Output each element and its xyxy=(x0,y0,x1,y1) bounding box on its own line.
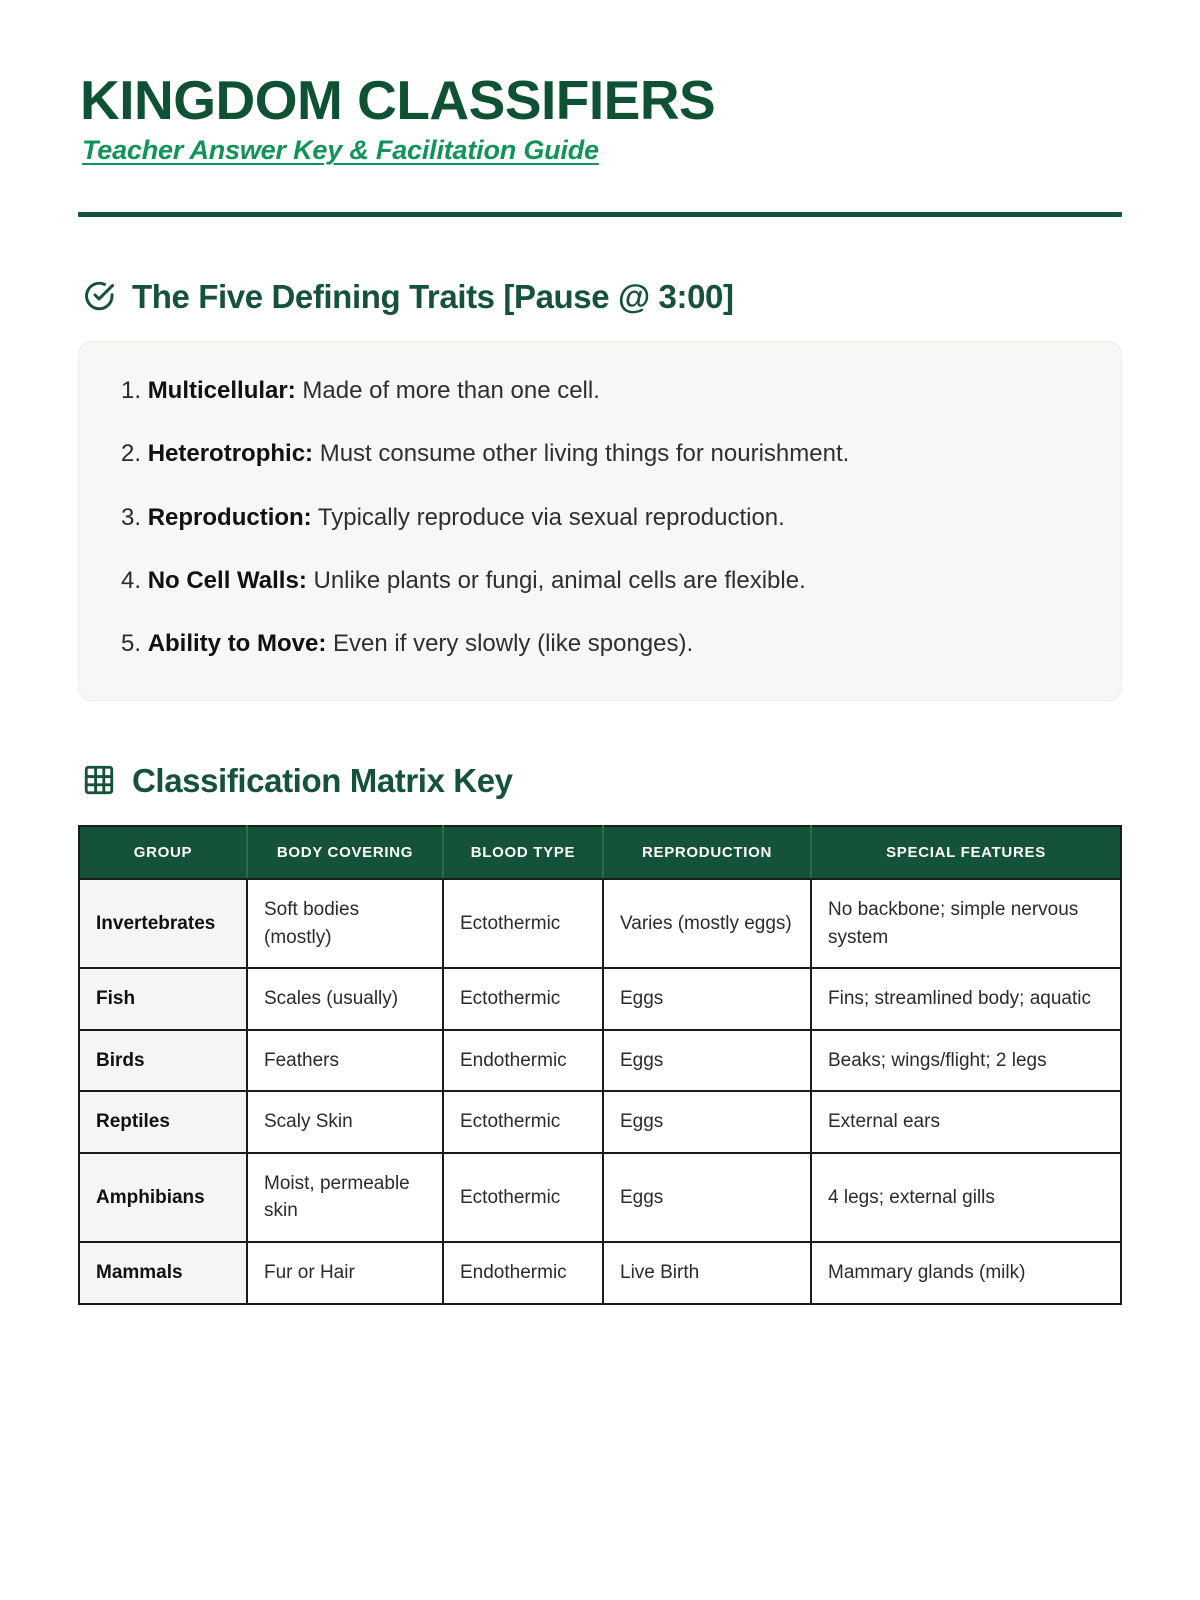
column-header-reproduction: REPRODUCTION xyxy=(603,826,811,879)
cell-body-covering: Moist, permeable skin xyxy=(247,1153,443,1242)
page-subtitle: Teacher Answer Key & Facilitation Guide xyxy=(82,135,599,166)
list-item-number: 5. xyxy=(121,630,141,657)
document-page: KINGDOM CLASSIFIERS Teacher Answer Key &… xyxy=(0,0,1200,1600)
list-item-term: Heterotrophic: xyxy=(148,440,313,467)
table-row: Fish Scales (usually) Ectothermic Eggs F… xyxy=(79,968,1121,1030)
table-row: Mammals Fur or Hair Endothermic Live Bir… xyxy=(79,1242,1121,1304)
cell-special-features: External ears xyxy=(811,1091,1121,1153)
cell-blood-type: Endothermic xyxy=(443,1242,603,1304)
list-item-number: 2. xyxy=(121,440,141,467)
list-item-number: 4. xyxy=(121,567,141,594)
traits-callout-box: 1. Multicellular: Made of more than one … xyxy=(78,341,1122,701)
cell-blood-type: Ectothermic xyxy=(443,879,603,968)
classification-matrix-table: GROUP BODY COVERING BLOOD TYPE REPRODUCT… xyxy=(78,825,1122,1304)
cell-reproduction: Live Birth xyxy=(603,1242,811,1304)
cell-group: Birds xyxy=(79,1030,247,1092)
cell-body-covering: Scales (usually) xyxy=(247,968,443,1030)
list-item-description: Unlike plants or fungi, animal cells are… xyxy=(307,567,806,594)
list-item-description: Must consume other living things for nou… xyxy=(313,440,849,467)
page-title: KINGDOM CLASSIFIERS xyxy=(80,72,1122,129)
cell-group: Mammals xyxy=(79,1242,247,1304)
list-item-number: 1. xyxy=(121,377,141,404)
table-header: GROUP BODY COVERING BLOOD TYPE REPRODUCT… xyxy=(79,826,1121,879)
list-item-description: Even if very slowly (like sponges). xyxy=(326,630,693,657)
section-title-traits: The Five Defining Traits [Pause @ 3:00] xyxy=(132,280,734,313)
section-header-traits: The Five Defining Traits [Pause @ 3:00] xyxy=(82,279,1122,313)
cell-reproduction: Eggs xyxy=(603,1091,811,1153)
cell-special-features: Mammary glands (milk) xyxy=(811,1242,1121,1304)
cell-group: Reptiles xyxy=(79,1091,247,1153)
list-item: 4. No Cell Walls: Unlike plants or fungi… xyxy=(121,562,1079,599)
column-header-blood-type: BLOOD TYPE xyxy=(443,826,603,879)
header-divider xyxy=(78,212,1122,217)
column-header-body-covering: BODY COVERING xyxy=(247,826,443,879)
cell-body-covering: Fur or Hair xyxy=(247,1242,443,1304)
list-item-term: Multicellular: xyxy=(148,377,296,404)
cell-special-features: 4 legs; external gills xyxy=(811,1153,1121,1242)
cell-blood-type: Ectothermic xyxy=(443,1153,603,1242)
cell-reproduction: Eggs xyxy=(603,968,811,1030)
cell-reproduction: Eggs xyxy=(603,1030,811,1092)
cell-body-covering: Feathers xyxy=(247,1030,443,1092)
cell-special-features: Beaks; wings/flight; 2 legs xyxy=(811,1030,1121,1092)
cell-group: Invertebrates xyxy=(79,879,247,968)
cell-reproduction: Varies (mostly eggs) xyxy=(603,879,811,968)
column-header-group: GROUP xyxy=(79,826,247,879)
cell-special-features: Fins; streamlined body; aquatic xyxy=(811,968,1121,1030)
list-item: 5. Ability to Move: Even if very slowly … xyxy=(121,625,1079,662)
table-grid-icon xyxy=(82,763,116,797)
table-row: Birds Feathers Endothermic Eggs Beaks; w… xyxy=(79,1030,1121,1092)
check-circle-icon xyxy=(82,279,116,313)
cell-special-features: No backbone; simple nervous system xyxy=(811,879,1121,968)
table-row: Amphibians Moist, permeable skin Ectothe… xyxy=(79,1153,1121,1242)
cell-blood-type: Ectothermic xyxy=(443,1091,603,1153)
cell-body-covering: Scaly Skin xyxy=(247,1091,443,1153)
list-item-term: Reproduction: xyxy=(148,504,312,531)
cell-body-covering: Soft bodies (mostly) xyxy=(247,879,443,968)
table-row: Invertebrates Soft bodies (mostly) Ectot… xyxy=(79,879,1121,968)
cell-blood-type: Ectothermic xyxy=(443,968,603,1030)
document-header: KINGDOM CLASSIFIERS Teacher Answer Key &… xyxy=(78,72,1122,217)
table-header-row: GROUP BODY COVERING BLOOD TYPE REPRODUCT… xyxy=(79,826,1121,879)
list-item-term: Ability to Move: xyxy=(148,630,327,657)
section-title-matrix: Classification Matrix Key xyxy=(132,764,513,797)
cell-group: Fish xyxy=(79,968,247,1030)
list-item: 1. Multicellular: Made of more than one … xyxy=(121,372,1079,409)
list-item-number: 3. xyxy=(121,504,141,531)
table-row: Reptiles Scaly Skin Ectothermic Eggs Ext… xyxy=(79,1091,1121,1153)
list-item: 3. Reproduction: Typically reproduce via… xyxy=(121,499,1079,536)
cell-blood-type: Endothermic xyxy=(443,1030,603,1092)
list-item-description: Made of more than one cell. xyxy=(296,377,600,404)
table-body: Invertebrates Soft bodies (mostly) Ectot… xyxy=(79,879,1121,1303)
list-item: 2. Heterotrophic: Must consume other liv… xyxy=(121,435,1079,472)
cell-reproduction: Eggs xyxy=(603,1153,811,1242)
list-item-description: Typically reproduce via sexual reproduct… xyxy=(312,504,785,531)
section-header-matrix: Classification Matrix Key xyxy=(82,763,1122,797)
column-header-special-features: SPECIAL FEATURES xyxy=(811,826,1121,879)
list-item-term: No Cell Walls: xyxy=(148,567,307,594)
cell-group: Amphibians xyxy=(79,1153,247,1242)
